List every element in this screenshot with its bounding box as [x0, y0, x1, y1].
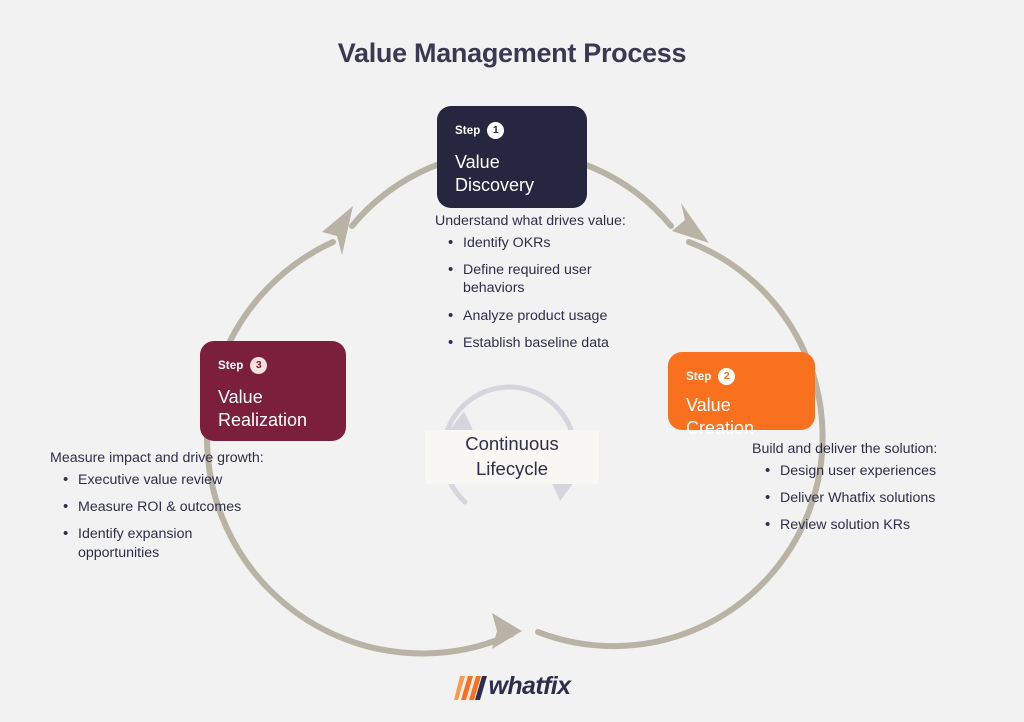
step-title-2: Value Creation	[686, 394, 797, 440]
step-title-1: Value Discovery	[455, 151, 569, 197]
whatfix-wordmark: whatfix	[489, 672, 571, 701]
step-label-3: Step	[218, 360, 243, 372]
step-title-3: Value Realization	[218, 386, 328, 432]
desc-bullet-list-1: Identify OKRs Define required user behav…	[435, 234, 685, 352]
desc-heading-3: Measure impact and drive growth:	[50, 450, 300, 466]
list-item: Define required user behaviors	[448, 261, 685, 297]
whatfix-mark-icon	[454, 674, 488, 700]
list-item: Measure ROI & outcomes	[63, 498, 300, 516]
diagram-canvas: Value Management Process Step 1 Value Di…	[0, 0, 1024, 722]
list-item: Identify expansion opportunities	[63, 525, 300, 561]
step-description-1: Understand what drives value: Identify O…	[435, 213, 685, 352]
list-item: Identify OKRs	[448, 234, 685, 252]
step-number-badge-1: 1	[487, 122, 504, 139]
step-description-3: Measure impact and drive growth: Executi…	[50, 450, 300, 562]
step-card-3[interactable]: Step 3 Value Realization	[200, 341, 346, 441]
list-item: Establish baseline data	[448, 334, 685, 352]
step-badge-row-3: Step 3	[218, 357, 328, 374]
list-item: Analyze product usage	[448, 307, 685, 325]
step-description-2: Build and deliver the solution: Design u…	[752, 441, 992, 535]
list-item: Executive value review	[63, 471, 300, 489]
step-number-badge-3: 3	[250, 357, 267, 374]
desc-bullet-list-2: Design user experiences Deliver Whatfix …	[752, 462, 992, 535]
step-number-badge-2: 2	[718, 368, 735, 385]
list-item: Design user experiences	[765, 462, 992, 480]
step-card-2[interactable]: Step 2 Value Creation	[668, 352, 815, 430]
step-card-1[interactable]: Step 1 Value Discovery	[437, 106, 587, 208]
desc-heading-2: Build and deliver the solution:	[752, 441, 992, 457]
ring-arrowhead-bottom	[492, 613, 522, 649]
step-badge-row-2: Step 2	[686, 368, 797, 385]
continuous-lifecycle-group: Continuous Lifecycle	[431, 374, 593, 536]
list-item: Review solution KRs	[765, 516, 992, 534]
desc-bullet-list-3: Executive value review Measure ROI & out…	[50, 471, 300, 562]
whatfix-logo: whatfix	[0, 672, 1024, 701]
continuous-lifecycle-label: Continuous Lifecycle	[425, 430, 599, 484]
list-item: Deliver Whatfix solutions	[765, 489, 992, 507]
step-label-2: Step	[686, 371, 711, 383]
step-label-1: Step	[455, 125, 480, 137]
step-badge-row-1: Step 1	[455, 122, 569, 139]
desc-heading-1: Understand what drives value:	[435, 213, 685, 229]
